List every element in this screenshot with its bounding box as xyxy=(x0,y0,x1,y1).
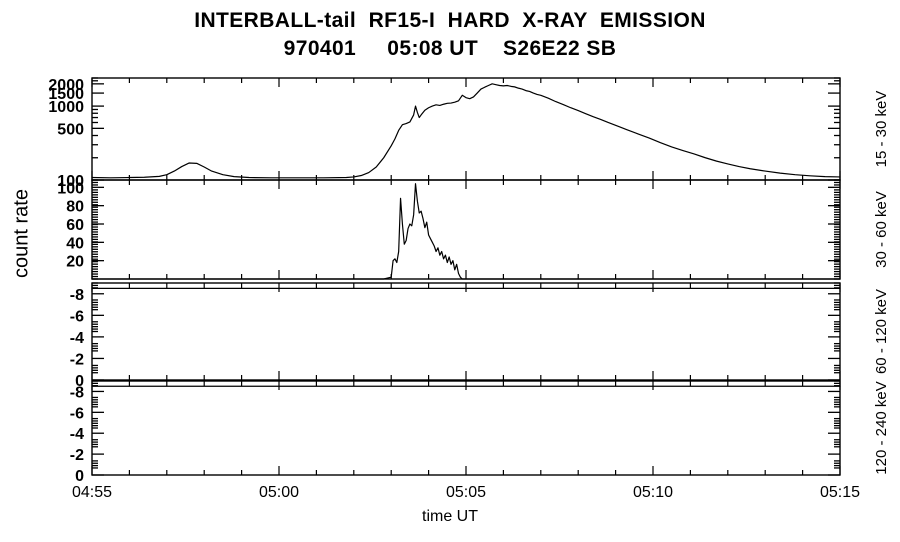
time-series-plot: 10050010001500200015 - 30 keV20406080100… xyxy=(0,0,900,542)
energy-band-label-1: 30 - 60 keV xyxy=(873,191,890,268)
y-tick-label: -6 xyxy=(70,405,84,422)
y-tick-label: 100 xyxy=(57,180,84,197)
energy-band-label-0: 15 - 30 keV xyxy=(873,91,890,168)
figure-root: INTERBALL-tail RF15-I HARD X-RAY EMISSIO… xyxy=(0,0,900,542)
y-tick-label: -4 xyxy=(70,330,84,347)
y-tick-label: 40 xyxy=(66,235,84,252)
y-tick-label: 20 xyxy=(66,254,84,271)
x-tick-label: 05:00 xyxy=(259,484,299,501)
y-tick-label: -2 xyxy=(70,447,84,464)
x-tick-label: 05:15 xyxy=(820,484,860,501)
x-tick-label: 05:05 xyxy=(446,484,486,501)
energy-band-label-3: 120 - 240 keV xyxy=(873,381,890,474)
y-tick-label: -6 xyxy=(70,308,84,325)
panel-0: 10050010001500200015 - 30 keV xyxy=(48,77,890,190)
y-tick-label: 0 xyxy=(75,468,84,485)
y-tick-label: 80 xyxy=(66,199,84,216)
y-tick-label: -2 xyxy=(70,351,84,368)
y-tick-label: -4 xyxy=(70,426,84,443)
y-tick-label: 60 xyxy=(66,217,84,234)
energy-band-label-2: 60 - 120 keV xyxy=(873,289,890,374)
data-series-0 xyxy=(92,84,840,178)
y-tick-label: -8 xyxy=(70,287,84,304)
panel-1: 2040608010030 - 60 keV xyxy=(57,180,890,279)
y-tick-label: -8 xyxy=(70,384,84,401)
panel-3: 0-2-4-6-8120 - 240 keV xyxy=(70,381,890,485)
y-tick-label: 2000 xyxy=(48,77,84,94)
data-series-1 xyxy=(92,184,840,279)
x-tick-label: 04:55 xyxy=(72,484,112,501)
y-tick-label: 500 xyxy=(57,121,84,138)
x-tick-label: 05:10 xyxy=(633,484,673,501)
panel-2: 0-2-4-6-860 - 120 keV xyxy=(70,283,890,390)
